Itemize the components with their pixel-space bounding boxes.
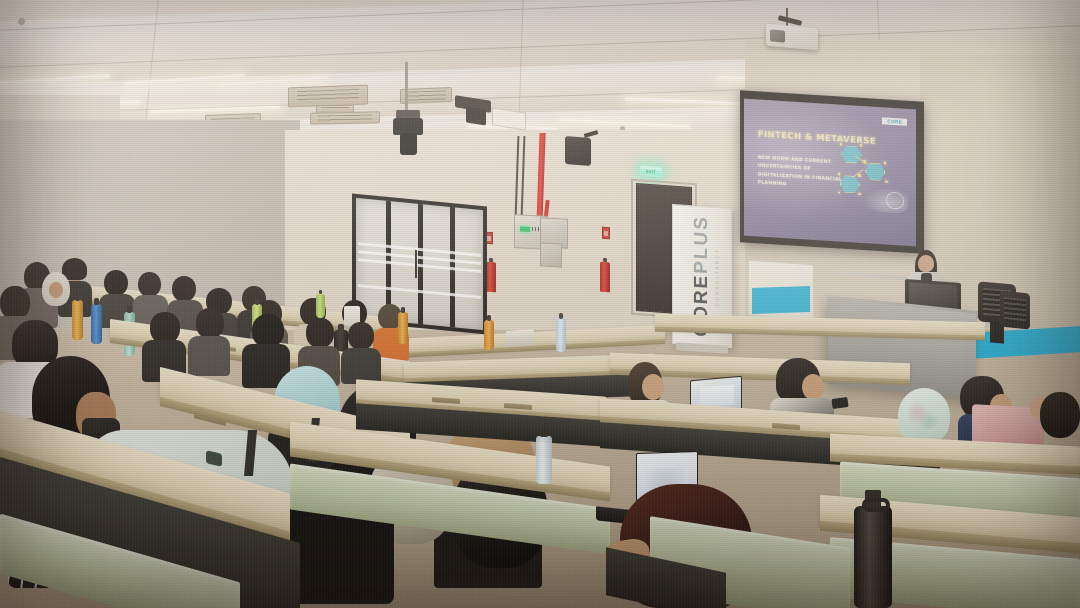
- person-hair: [172, 276, 196, 302]
- camera-lens-icon: [400, 133, 417, 155]
- person-hair: [196, 308, 224, 339]
- person-head: [49, 282, 63, 298]
- exit-sign: EXIT: [640, 165, 662, 177]
- laptop-screen-content: [700, 385, 734, 408]
- person-head: [642, 374, 664, 400]
- banner-brand-plus: PLUS: [691, 214, 712, 274]
- water-bottle-foreground: [854, 506, 892, 608]
- water-bottle: [536, 436, 552, 484]
- hexagon-vertex-dot: [885, 180, 887, 183]
- wall-speaker-icon: [565, 136, 591, 166]
- water-bottle: [556, 318, 566, 352]
- person-hair: [0, 286, 30, 320]
- person-hair: [252, 314, 284, 348]
- banner-tagline: CONSULTANCY: [715, 248, 720, 307]
- water-bottle: [91, 304, 102, 344]
- hexagon-node-icon: [841, 145, 862, 165]
- hexagon-vertex-dot: [860, 144, 862, 147]
- hexagon-node-icon: [840, 174, 861, 194]
- ac-vent: [316, 105, 354, 114]
- person-hair: [348, 322, 374, 350]
- robotic-hand-graphic: [862, 186, 908, 215]
- person-head: [802, 374, 824, 400]
- electrical-junction-box: [540, 242, 562, 267]
- hexagon-vertex-dot: [858, 174, 860, 177]
- hexagon-vertex-dot: [838, 173, 840, 176]
- person-hair: [1040, 392, 1080, 438]
- hexagon-vertex-dot: [863, 160, 865, 163]
- water-bottle: [484, 320, 494, 350]
- stage-chair[interactable]: [1000, 290, 1030, 329]
- hijab-pattern: [908, 402, 938, 430]
- hexagon-vertex-dot: [840, 143, 842, 146]
- person-torso: [341, 348, 381, 384]
- projection-screen[interactable]: CORE FINTECH & METAVERSE NEW NORM AND CU…: [744, 99, 916, 247]
- exit-sign-label: EXIT: [641, 166, 661, 176]
- ac-vent: [288, 85, 368, 108]
- ac-vent: [310, 111, 380, 124]
- projector-lens-icon: [770, 29, 785, 42]
- water-bottle: [316, 294, 325, 318]
- status-led-icon: [520, 226, 530, 232]
- hexagon-vertex-dot: [884, 162, 886, 165]
- slide-logo-badge: CORE: [882, 117, 907, 126]
- hexagon-vertex-dot: [838, 191, 840, 194]
- bottle-handle: [862, 498, 890, 512]
- presenter-head: [918, 255, 934, 272]
- person-hair: [138, 272, 161, 297]
- wall-accent-panel: [752, 286, 810, 314]
- fire-extinguisher-icon: [486, 262, 496, 293]
- water-bottle: [398, 312, 408, 344]
- folding-glass-doors[interactable]: [352, 194, 487, 335]
- fire-alarm-call-point-icon[interactable]: [602, 227, 610, 240]
- fire-extinguisher-icon: [600, 262, 610, 293]
- person-hair: [306, 318, 334, 348]
- slide-graphic-hexagon-network: [830, 140, 909, 216]
- door-handle[interactable]: [415, 250, 417, 278]
- person-hair: [104, 270, 128, 296]
- person-torso: [188, 336, 230, 376]
- lecture-hall-photo: EXIT COREPLUS CONSULTANCY CORE FINTECH &…: [0, 0, 1080, 608]
- ceiling-speaker-body: [466, 106, 486, 125]
- sprinkler-head-icon: [18, 18, 25, 25]
- tissue-box: [506, 329, 534, 347]
- hexagon-vertex-dot: [858, 193, 860, 196]
- water-bottle: [72, 300, 83, 340]
